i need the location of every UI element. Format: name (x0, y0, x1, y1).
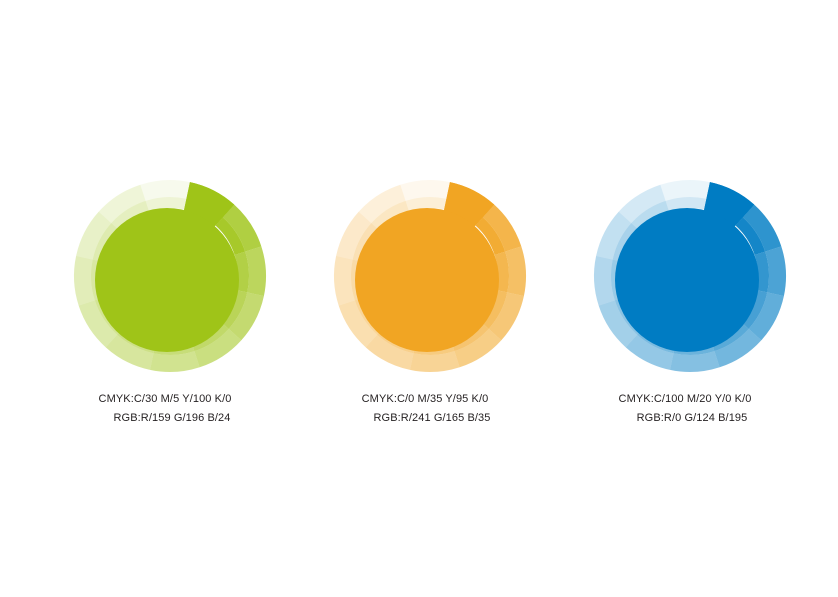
orange-swatch-core-disc (355, 208, 499, 352)
green-swatch-caption: CMYK:C/30 M/5 Y/100 K/0RGB:R/159 G/196 B… (50, 390, 280, 428)
green-swatch-rgb-label: RGB:R/159 G/196 B/24 (50, 409, 280, 428)
blue-swatch-ring (594, 180, 786, 372)
green-swatch-cmyk-label: CMYK:C/30 M/5 Y/100 K/0 (50, 390, 280, 409)
palette-canvas: CMYK:C/30 M/5 Y/100 K/0RGB:R/159 G/196 B… (0, 0, 838, 597)
blue-swatch-rgb-label: RGB:R/0 G/124 B/195 (570, 409, 800, 428)
orange-swatch-caption: CMYK:C/0 M/35 Y/95 K/0RGB:R/241 G/165 B/… (310, 390, 540, 428)
green-swatch-ring (74, 180, 266, 372)
blue-swatch-cmyk-label: CMYK:C/100 M/20 Y/0 K/0 (570, 390, 800, 409)
green-swatch-core-disc (95, 208, 239, 352)
blue-swatch-caption: CMYK:C/100 M/20 Y/0 K/0RGB:R/0 G/124 B/1… (570, 390, 800, 428)
orange-swatch-cmyk-label: CMYK:C/0 M/35 Y/95 K/0 (310, 390, 540, 409)
orange-swatch-rgb-label: RGB:R/241 G/165 B/35 (310, 409, 540, 428)
orange-swatch-ring (334, 180, 526, 372)
blue-swatch-core-disc (615, 208, 759, 352)
